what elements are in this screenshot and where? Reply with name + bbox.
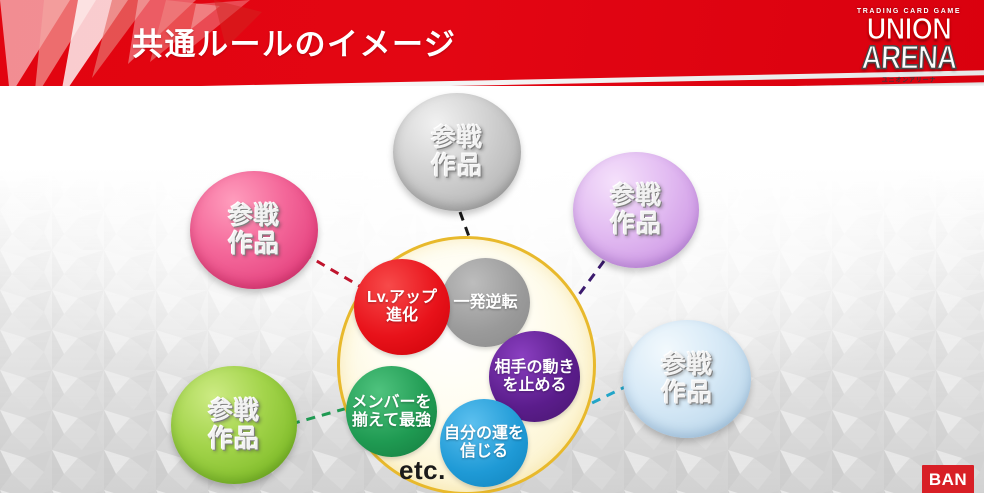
coin-line: 参戦: [661, 351, 713, 379]
coin-line: 作品: [610, 210, 662, 238]
slide-canvas: 共通ルールのイメージ TRADING CARD GAME UNION ARENA…: [0, 0, 984, 493]
logo-jp-subtitle: ユニオンアリーナ: [843, 75, 975, 84]
coin-line: 参戦: [610, 182, 662, 210]
concept-bubble-lv-up-shinka[interactable]: Lv.アップ 進化: [354, 259, 450, 355]
coin-line: 作品: [208, 425, 260, 453]
concept-line: 自分の運を: [444, 425, 524, 443]
coin-bubble-pink[interactable]: 参戦 作品: [190, 171, 318, 289]
coin-line: 作品: [228, 230, 280, 258]
page-title: 共通ルールのイメージ: [132, 19, 456, 64]
coin-line: 参戦: [431, 124, 483, 152]
concept-line: 信じる: [460, 443, 508, 461]
etc-label: etc.: [399, 455, 446, 486]
concept-line: メンバーを: [351, 394, 431, 412]
coin-bubble-green[interactable]: 参戦 作品: [171, 366, 297, 484]
coin-line: 作品: [661, 379, 713, 407]
coin-line: 参戦: [228, 202, 280, 230]
logo-arena-text: ARENA: [842, 43, 975, 74]
concept-bubble-member-soroete[interactable]: メンバーを 揃えて最強: [346, 366, 437, 457]
coin-bubble-purple[interactable]: 参戦 作品: [573, 152, 699, 268]
concept-bubble-jibun-no-un[interactable]: 自分の運を 信じる: [440, 399, 528, 487]
concept-line: Lv.アップ: [367, 289, 437, 307]
bandai-watermark: BAN: [922, 465, 974, 493]
concept-line: 進化: [386, 307, 418, 325]
concept-line: 相手の動き: [494, 359, 574, 377]
coin-bubble-blue[interactable]: 参戦 作品: [623, 320, 751, 438]
coin-line: 作品: [431, 152, 483, 180]
union-arena-logo: TRADING CARD GAME UNION ARENA ユニオンアリーナ: [843, 4, 975, 86]
concept-line: 一発逆転: [453, 294, 517, 312]
concept-line: 揃えて最強: [352, 412, 431, 430]
coin-line: 参戦: [208, 397, 260, 425]
coin-bubble-gray[interactable]: 参戦 作品: [393, 93, 521, 211]
concept-line: を止める: [502, 377, 566, 395]
slide-header: 共通ルールのイメージ TRADING CARD GAME UNION ARENA…: [0, 0, 984, 86]
